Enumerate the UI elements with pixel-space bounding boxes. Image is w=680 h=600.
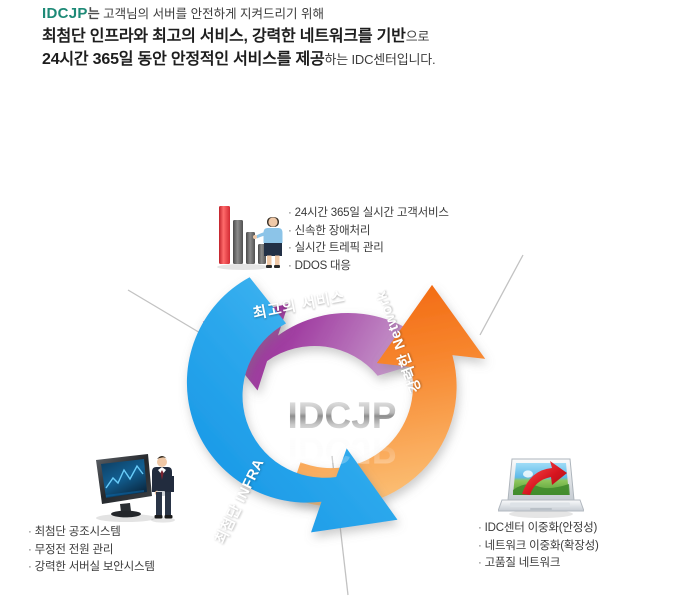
headline-line-2-bold: 최첨단 인프라와 최고의 서비스, 강력한 네트워크를 기반 xyxy=(42,28,406,45)
bullet-item: 무정전 전원 관리 xyxy=(28,542,155,560)
bullet-item: 신속한 장애처리 xyxy=(288,223,449,241)
bullet-item: 실시간 트레픽 관리 xyxy=(288,240,449,258)
bullet-list-service: 24시간 365일 실시간 고객서비스 신속한 장애처리 실시간 트레픽 관리 … xyxy=(288,205,449,275)
bullet-item: 강력한 서버실 보안시스템 xyxy=(28,559,155,577)
headline-line-2: 최첨단 인프라와 최고의 서비스, 강력한 네트워크를 기반으로 xyxy=(42,27,642,48)
center-logo-reflection: IDCJP xyxy=(272,430,412,470)
bullet-item: 고품질 네트워크 xyxy=(478,555,599,573)
headline-line-1-rest: 고객님의 서버를 안전하게 지켜드리기 위해 xyxy=(100,7,324,21)
bullet-item: 최첨단 공조시스템 xyxy=(28,524,155,542)
bullet-list-network: IDC센터 이중화(안정성) 네트워크 이중화(확장성) 고품질 네트워크 xyxy=(478,520,599,573)
headline-line-3-thin: 하는 IDC센터입니다. xyxy=(325,52,436,67)
headline-line-3: 24시간 365일 동안 안정적인 서비스를 제공하는 IDC센터입니다. xyxy=(42,50,642,71)
brand-name: IDCJP xyxy=(42,5,88,22)
infographic-canvas: IDCJP는 고객님의 서버를 안전하게 지켜드리기 위해 최첨단 인프라와 최… xyxy=(0,0,680,600)
cycle-diagram: IDCJP IDCJP 최고의 서비스 강력한 Network 최첨단 INFR… xyxy=(0,90,680,600)
bullet-item: IDC센터 이중화(안정성) xyxy=(478,520,599,538)
headline-line-3-bold: 24시간 365일 동안 안정적인 서비스를 제공 xyxy=(42,51,325,68)
businessman-figure xyxy=(151,456,175,523)
bullet-list-infra: 최첨단 공조시스템 무정전 전원 관리 강력한 서버실 보안시스템 xyxy=(28,524,155,577)
center-logo: IDCJP IDCJP xyxy=(272,396,412,474)
page-title: IDCJP는 고객님의 서버를 안전하게 지켜드리기 위해 최첨단 인프라와 최… xyxy=(42,4,642,71)
leader-line-network xyxy=(480,255,523,335)
headline-line-1: IDCJP는 고객님의 서버를 안전하게 지켜드리기 위해 xyxy=(42,4,642,24)
bullet-item: 네트워크 이중화(확장성) xyxy=(478,538,599,556)
headline-line-2-thin: 으로 xyxy=(406,29,430,44)
bar-chart-presenter-icon xyxy=(216,200,294,270)
bullet-item: 24시간 365일 실시간 고객서비스 xyxy=(288,205,449,223)
monitor-businessman-icon xyxy=(90,448,186,526)
presenter-figure xyxy=(253,217,283,268)
bullet-item: DDOS 대응 xyxy=(288,258,449,276)
laptop-arrow-icon xyxy=(498,450,584,520)
headline-particle: 는 xyxy=(88,6,100,21)
